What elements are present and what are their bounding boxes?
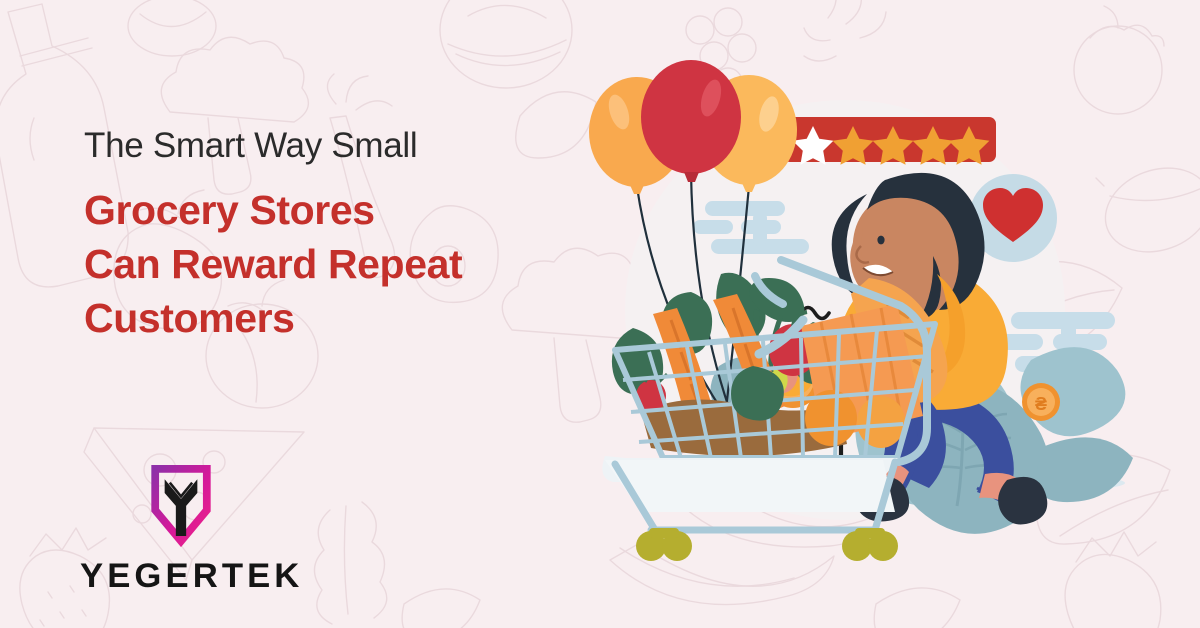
headline-eyebrow: The Smart Way Small [84, 126, 624, 165]
coin-lower: ₴ [1022, 383, 1060, 421]
hero-illustration: ₴ ₴ [545, 60, 1200, 628]
page-title: Grocery Stores Can Reward Repeat Custome… [84, 183, 624, 345]
headline-line-2: Can Reward Repeat [84, 237, 624, 291]
five-star-rating-badge [783, 117, 996, 165]
cart-wheel-right [842, 528, 898, 561]
cart-wheel-left [636, 528, 692, 561]
svg-text:₴: ₴ [1035, 394, 1047, 414]
brand-logo[interactable]: YEGERTEK [80, 462, 340, 596]
headline-line-3: Customers [84, 291, 624, 345]
yegertek-y-shield-mark [138, 462, 340, 553]
blog-banner: The Smart Way Small Grocery Stores Can R… [0, 0, 1200, 628]
headline-line-1: Grocery Stores [84, 183, 624, 237]
logo-wordmark: YEGERTEK [80, 557, 345, 596]
headline-block: The Smart Way Small Grocery Stores Can R… [84, 126, 624, 346]
